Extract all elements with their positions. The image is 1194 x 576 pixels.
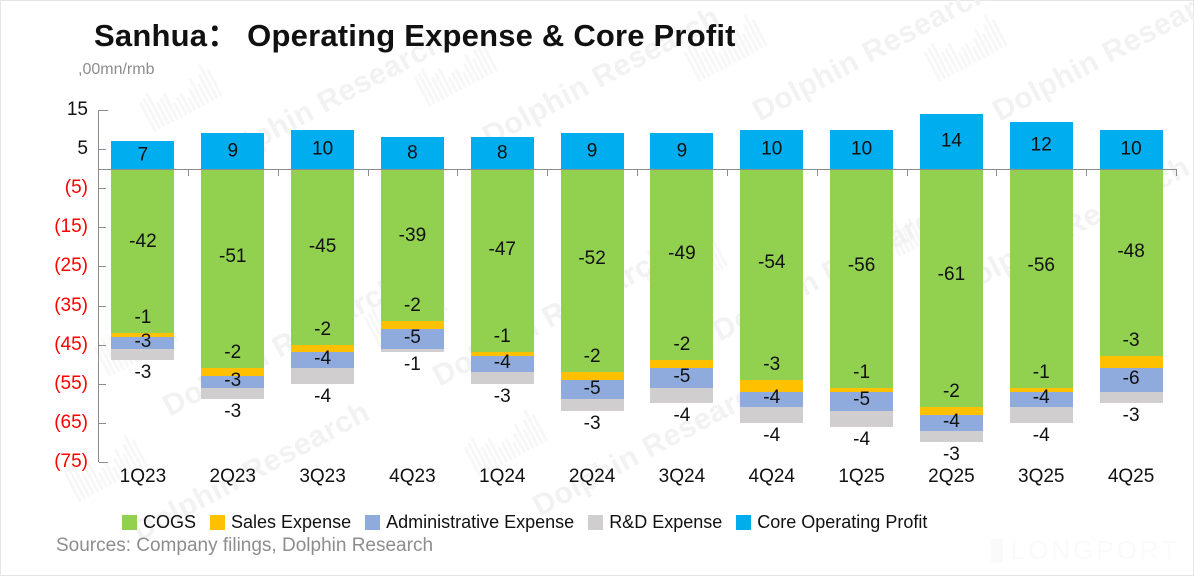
x-axis-tick	[637, 169, 638, 176]
legend-label: Administrative Expense	[386, 512, 574, 533]
bar-group[interactable]: 10-48-3-6-34Q25	[1100, 110, 1163, 462]
bar-segment-core-operating-profit[interactable]: 7	[111, 141, 174, 168]
bar-value-label: -4	[740, 426, 803, 445]
bar-value-label: -6	[1100, 369, 1163, 388]
bar-segment-core-operating-profit[interactable]: 10	[291, 130, 354, 169]
y-axis-tick-label: (25)	[0, 255, 88, 277]
bar-value-label: -4	[291, 349, 354, 368]
bar-value-label: 9	[561, 142, 624, 161]
y-axis-tick-label: (45)	[0, 334, 88, 356]
bar-segment-rd[interactable]	[920, 431, 983, 443]
bar-value-label: 10	[740, 140, 803, 159]
bar-value-label: -3	[1100, 331, 1163, 350]
bar-value-label: -3	[471, 387, 534, 406]
bar-value-label: 9	[201, 142, 264, 161]
bar-value-label: 12	[1010, 136, 1073, 155]
bar-segment-cogs[interactable]	[920, 169, 983, 408]
bar-value-label: -4	[1010, 388, 1073, 407]
y-axis-tick-label: (15)	[0, 216, 88, 238]
y-axis-tick	[99, 188, 106, 189]
bar-group[interactable]: 14-61-2-4-32Q25	[920, 110, 983, 462]
y-axis-tick-label: (65)	[0, 412, 88, 434]
bar-group[interactable]: 9-51-2-3-32Q23	[201, 110, 264, 462]
y-axis-tick-label: (5)	[0, 177, 88, 199]
x-axis-category-label: 2Q23	[201, 466, 264, 488]
bar-group[interactable]: 12-56-1-4-43Q25	[1010, 110, 1073, 462]
bar-value-label: -2	[201, 343, 264, 362]
bar-segment-cogs[interactable]	[650, 169, 713, 361]
y-axis-tick-label: 5	[0, 138, 88, 160]
x-axis-category-label: 3Q24	[650, 466, 713, 488]
bar-value-label: 8	[381, 144, 444, 163]
bar-value-label: -1	[111, 308, 174, 327]
bar-segment-core-operating-profit[interactable]: 9	[650, 133, 713, 168]
bar-value-label: 10	[1100, 140, 1163, 159]
bar-value-label: -1	[381, 355, 444, 374]
bar-segment-cogs[interactable]	[830, 169, 893, 388]
y-axis-cap	[99, 110, 108, 111]
x-axis-tick	[368, 169, 369, 176]
x-axis-tick	[907, 169, 908, 176]
y-axis-tick	[99, 227, 106, 228]
bar-segment-rd[interactable]	[1010, 407, 1073, 423]
bar-value-label: -48	[1100, 242, 1163, 261]
x-axis-tick	[188, 169, 189, 176]
bar-value-label: -4	[291, 387, 354, 406]
bar-value-label: -54	[740, 253, 803, 272]
bar-segment-cogs[interactable]	[1100, 169, 1163, 357]
bar-value-label: -39	[381, 226, 444, 245]
bar-value-label: -2	[650, 335, 713, 354]
legend-swatch-core_operating_profit	[736, 515, 751, 530]
y-axis-tick	[99, 266, 106, 267]
y-axis-cap	[99, 462, 108, 463]
bar-value-label: 7	[111, 145, 174, 164]
bar-segment-rd[interactable]	[561, 399, 624, 411]
x-axis-tick	[996, 169, 997, 176]
x-axis-tick	[278, 169, 279, 176]
y-axis-tick-label: 15	[0, 99, 88, 121]
bar-value-label: 9	[650, 142, 713, 161]
y-axis-tick-label: (35)	[0, 295, 88, 317]
legend-label: R&D Expense	[609, 512, 722, 533]
x-axis-category-label: 4Q23	[381, 466, 444, 488]
bar-segment-cogs[interactable]	[740, 169, 803, 380]
bar-value-label: -61	[920, 265, 983, 284]
legend-label: COGS	[143, 512, 196, 533]
legend-item-core_operating_profit[interactable]: Core Operating Profit	[736, 512, 927, 533]
y-axis-tick-label: (75)	[0, 451, 88, 473]
bar-segment-core-operating-profit[interactable]: 10	[830, 130, 893, 169]
bar-value-label: -3	[201, 371, 264, 390]
legend-label: Sales Expense	[231, 512, 351, 533]
x-axis-tick	[457, 169, 458, 176]
x-axis-category-label: 3Q25	[1010, 466, 1073, 488]
x-axis-tick	[1176, 169, 1177, 176]
bar-value-label: -1	[471, 327, 534, 346]
bar-value-label: -3	[920, 445, 983, 464]
bar-value-label: -5	[381, 328, 444, 347]
bar-value-label: -5	[830, 390, 893, 409]
sources-caption: Sources: Company filings, Dolphin Resear…	[56, 535, 433, 557]
bar-value-label: -3	[111, 332, 174, 351]
bar-value-label: 8	[471, 144, 534, 163]
legend-item-cogs[interactable]: COGS	[122, 512, 196, 533]
bar-group[interactable]: 7-42-1-3-31Q23	[111, 110, 174, 462]
bar-value-label: -4	[471, 353, 534, 372]
legend-swatch-administrative_expense	[365, 515, 380, 530]
legend-item-administrative_expense[interactable]: Administrative Expense	[365, 512, 574, 533]
bar-segment-core-operating-profit[interactable]: 9	[201, 133, 264, 168]
y-axis-tick	[99, 149, 106, 150]
legend-item-sales_expense[interactable]: Sales Expense	[210, 512, 351, 533]
bar-value-label: -51	[201, 247, 264, 266]
bar-value-label: -3	[740, 355, 803, 374]
bar-segment-cogs[interactable]	[471, 169, 534, 353]
x-axis-category-label: 3Q23	[291, 466, 354, 488]
bar-segment-rd[interactable]	[830, 411, 893, 427]
bar-value-label: 10	[291, 140, 354, 159]
bar-segment-cogs[interactable]	[201, 169, 264, 368]
bar-value-label: -52	[561, 249, 624, 268]
legend-swatch-rd_expense	[588, 515, 603, 530]
x-axis-category-label: 2Q24	[561, 466, 624, 488]
legend-swatch-cogs	[122, 515, 137, 530]
bar-segment-sales[interactable]	[1100, 356, 1163, 368]
bar-segment-rd[interactable]	[291, 368, 354, 384]
legend-label: Core Operating Profit	[757, 512, 927, 533]
bar-group[interactable]: 8-39-2-5-14Q23	[381, 110, 444, 462]
chart-title: Sanhua： Operating Expense & Core Profit	[94, 10, 736, 55]
bar-value-label: -49	[650, 244, 713, 263]
bar-segment-core-operating-profit[interactable]: 8	[381, 137, 444, 168]
x-axis-tick	[727, 169, 728, 176]
bar-value-label: -5	[561, 379, 624, 398]
bar-segment-core-operating-profit[interactable]: 14	[920, 114, 983, 169]
x-axis-category-label: 2Q25	[920, 466, 983, 488]
bar-segment-core-operating-profit[interactable]: 9	[561, 133, 624, 168]
bar-segment-core-operating-profit[interactable]: 8	[471, 137, 534, 168]
x-axis-tick	[817, 169, 818, 176]
x-axis-category-label: 1Q25	[830, 466, 893, 488]
bar-value-label: -4	[920, 412, 983, 431]
y-axis-unit-label: ,00mn/rmb	[78, 61, 154, 79]
chart-legend: COGSSales ExpenseAdministrative ExpenseR…	[122, 512, 927, 533]
bar-value-label: -4	[830, 430, 893, 449]
bar-value-label: -2	[381, 296, 444, 315]
x-axis-category-label: 4Q25	[1100, 466, 1163, 488]
bar-group[interactable]: 10-54-3-4-44Q24	[740, 110, 803, 462]
bar-group[interactable]: 10-56-1-5-41Q25	[830, 110, 893, 462]
bar-value-label: -3	[1100, 406, 1163, 425]
bar-segment-rd[interactable]	[1100, 392, 1163, 404]
bar-group[interactable]: 9-49-2-5-43Q24	[650, 110, 713, 462]
x-axis-tick	[547, 169, 548, 176]
bar-segment-rd[interactable]	[381, 349, 444, 353]
plot-area: 7-42-1-3-31Q239-51-2-3-32Q2310-45-2-4-43…	[98, 110, 1176, 462]
bar-segment-core-operating-profit[interactable]: 10	[1100, 130, 1163, 169]
bar-value-label: 10	[830, 140, 893, 159]
bar-value-label: 14	[920, 132, 983, 151]
legend-swatch-sales_expense	[210, 515, 225, 530]
bar-value-label: -3	[111, 363, 174, 382]
bar-segment-core-operating-profit[interactable]: 10	[740, 130, 803, 169]
x-axis-category-label: 1Q23	[111, 466, 174, 488]
bar-group[interactable]: 8-47-1-4-31Q24	[471, 110, 534, 462]
bar-value-label: -56	[830, 256, 893, 275]
y-axis-tick	[99, 384, 106, 385]
bar-value-label: -1	[830, 363, 893, 382]
bar-group[interactable]: 10-45-2-4-43Q23	[291, 110, 354, 462]
bar-value-label: -4	[650, 406, 713, 425]
legend-item-rd_expense[interactable]: R&D Expense	[588, 512, 722, 533]
bar-segment-cogs[interactable]	[561, 169, 624, 372]
x-axis-tick	[1086, 169, 1087, 176]
bar-segment-rd[interactable]	[471, 372, 534, 384]
bar-value-label: -3	[201, 402, 264, 421]
bar-value-label: -4	[1010, 426, 1073, 445]
bar-segment-cogs[interactable]	[1010, 169, 1073, 388]
x-axis-category-label: 1Q24	[471, 466, 534, 488]
y-axis-tick	[99, 423, 106, 424]
bar-value-label: -2	[561, 347, 624, 366]
bar-series-container: 7-42-1-3-31Q239-51-2-3-32Q2310-45-2-4-43…	[98, 110, 1176, 462]
y-axis-tick	[99, 345, 106, 346]
bar-segment-rd[interactable]	[740, 407, 803, 423]
bar-value-label: -45	[291, 237, 354, 256]
x-axis-category-label: 4Q24	[740, 466, 803, 488]
bar-value-label: -2	[920, 382, 983, 401]
bar-segment-core-operating-profit[interactable]: 12	[1010, 122, 1073, 169]
bar-value-label: -47	[471, 240, 534, 259]
bar-value-label: -42	[111, 232, 174, 251]
bar-value-label: -5	[650, 367, 713, 386]
bar-group[interactable]: 9-52-2-5-32Q24	[561, 110, 624, 462]
bar-value-label: -2	[291, 320, 354, 339]
y-axis-tick-label: (55)	[0, 373, 88, 395]
bar-value-label: -56	[1010, 256, 1073, 275]
y-axis-tick	[99, 306, 106, 307]
bar-value-label: -4	[740, 388, 803, 407]
bar-segment-rd[interactable]	[650, 388, 713, 404]
bar-value-label: -1	[1010, 363, 1073, 382]
bar-value-label: -3	[561, 414, 624, 433]
